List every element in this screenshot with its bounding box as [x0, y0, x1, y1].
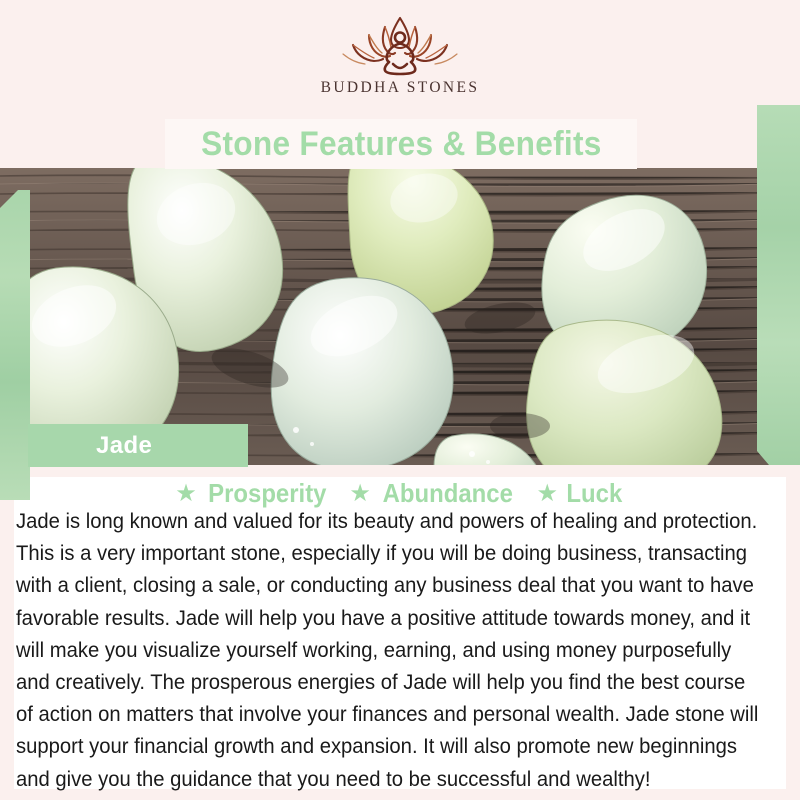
benefit-label: Abundance — [383, 478, 513, 509]
left-accent-bar — [0, 190, 30, 500]
stone-name-label: Jade — [28, 424, 248, 467]
brand-header: BUDDHA STONES — [0, 0, 800, 118]
benefit-item-luck: ★ Luck — [537, 478, 625, 509]
benefit-item-prosperity: ★ Prosperity — [175, 478, 331, 509]
benefit-label: Luck — [566, 478, 622, 509]
star-icon: ★ — [537, 482, 559, 506]
stone-name-text: Jade — [96, 432, 152, 460]
star-icon: ★ — [349, 482, 371, 506]
brand-wordmark: BUDDHA STONES — [321, 79, 480, 97]
benefits-row: ★ Prosperity ★ Abundance ★ Luck — [0, 478, 800, 509]
jade-stones-photo — [0, 168, 800, 465]
star-icon: ★ — [175, 482, 197, 506]
stone-description: Jade is long known and valued for its be… — [16, 506, 759, 796]
infographic-page: BUDDHA STONES — [0, 0, 800, 800]
page-title: Stone Features & Benefits — [201, 125, 602, 164]
section-title-banner: Stone Features & Benefits — [165, 119, 637, 169]
right-accent-bar — [757, 105, 800, 465]
lotus-meditation-figure-icon — [325, 14, 475, 76]
benefit-item-abundance: ★ Abundance — [349, 478, 518, 509]
benefit-label: Prosperity — [208, 478, 326, 509]
